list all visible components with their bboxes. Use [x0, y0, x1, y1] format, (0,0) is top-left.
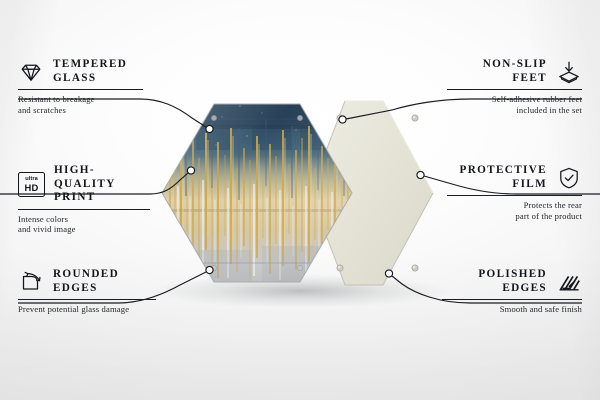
feature-non-slip-feet: NON-SLIP FEET Self-adhesive rubber feet …	[447, 58, 582, 115]
feature-subtitle: Protects the rear part of the product	[447, 200, 582, 221]
divider	[18, 209, 150, 210]
hd-label: HD	[25, 183, 39, 192]
feature-subtitle: Resistant to breakage and scratches	[18, 94, 143, 115]
divider	[442, 299, 582, 300]
product-front-panel	[160, 100, 356, 286]
feature-title: PROTECTIVE FILM	[460, 164, 547, 191]
feature-subtitle: Intense colors and vivid image	[18, 214, 150, 235]
rounded-corner-arrow-icon	[18, 269, 44, 295]
divider	[447, 89, 582, 90]
feature-subtitle: Smooth and safe finish	[442, 304, 582, 314]
feature-protective-film: PROTECTIVE FILM Protects the rear part o…	[447, 164, 582, 221]
ultra-hd-badge-icon: ultra HD	[18, 172, 45, 197]
feature-polished-edges: POLISHED EDGES Smooth	[442, 268, 582, 315]
divider	[447, 195, 582, 196]
diagonal-hatch-icon	[556, 269, 582, 295]
feature-title: NON-SLIP FEET	[483, 58, 547, 85]
shield-check-icon	[556, 165, 582, 191]
diamond-icon	[18, 59, 44, 85]
arrow-onto-pad-icon	[556, 59, 582, 85]
feature-rounded-edges: ROUNDED EDGES Prevent potential glass da…	[18, 268, 156, 315]
feature-tempered-glass: TEMPERED GLASS Resistant to breakage and…	[18, 58, 143, 115]
product-infographic: TEMPERED GLASS Resistant to breakage and…	[0, 0, 600, 400]
feature-title: HIGH-QUALITY PRINT	[54, 164, 150, 205]
feature-high-quality-print: ultra HD HIGH-QUALITY PRINT Intense colo…	[18, 164, 150, 235]
feature-subtitle: Prevent potential glass damage	[18, 304, 156, 314]
feature-title: ROUNDED EDGES	[53, 268, 119, 295]
divider	[18, 89, 143, 90]
feature-title: POLISHED EDGES	[478, 268, 547, 295]
feature-title: TEMPERED GLASS	[53, 58, 127, 85]
feature-subtitle: Self-adhesive rubber feet included in th…	[447, 94, 582, 115]
divider	[18, 299, 156, 300]
